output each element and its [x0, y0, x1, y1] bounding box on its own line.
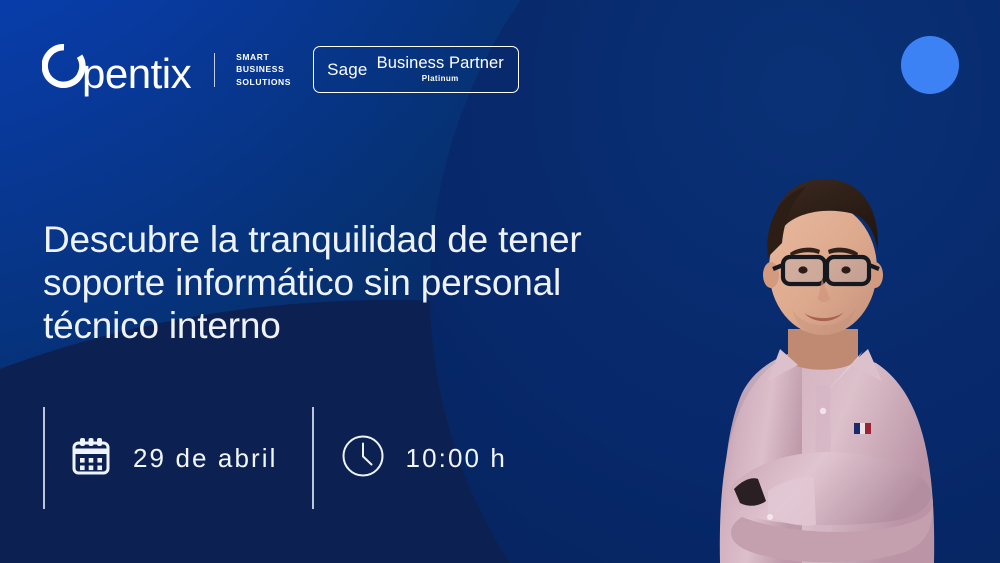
event-meta-row: 29 de abril 10:00 h [43, 407, 507, 509]
event-date: 29 de abril [45, 407, 312, 509]
page-title: Descubre la tranquilidad de tener soport… [43, 218, 623, 348]
sage-brand-label: Sage [327, 61, 368, 78]
sage-tier-label: Platinum [422, 74, 459, 83]
event-time: 10:00 h [314, 407, 507, 509]
open-ring-icon [42, 44, 86, 93]
event-date-label: 29 de abril [133, 443, 278, 474]
opentix-wordmark: pentix [82, 53, 191, 95]
opentix-logo[interactable]: pentix SMART BUSINESS SOLUTIONS [42, 44, 291, 95]
webinar-banner: pentix SMART BUSINESS SOLUTIONS Sage Bus… [0, 0, 1000, 563]
sage-partner-badge[interactable]: Sage Business Partner Platinum [313, 46, 519, 93]
accent-circle-decoration [901, 36, 959, 94]
event-time-label: 10:00 h [406, 443, 507, 474]
logo-tagline: SMART BUSINESS SOLUTIONS [236, 51, 291, 87]
logo-divider [214, 53, 215, 87]
clock-icon [340, 433, 386, 484]
brand-header: pentix SMART BUSINESS SOLUTIONS Sage Bus… [42, 44, 519, 95]
sage-partner-label: Business Partner [377, 55, 504, 72]
calendar-icon [69, 434, 113, 483]
speaker-portrait [592, 93, 992, 563]
